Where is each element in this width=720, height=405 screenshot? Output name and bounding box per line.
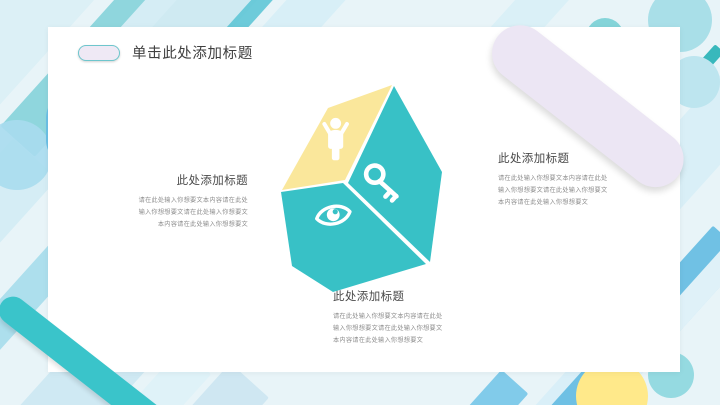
title-pill-icon [78, 45, 120, 61]
block-line: 输入你想想要文请在此处输入你想要文 [108, 207, 248, 219]
block-line: 本内容请在此处输入你想想要文 [498, 197, 648, 209]
block-line: 请在此处输入你想要文本内容请在此处 [498, 173, 648, 185]
isometric-cube-graphic [270, 80, 450, 300]
presentation-slide: 单击此处添加标题 此处添加标题 请在此处输入你想要文本内容请在此处 输入你想想要… [0, 0, 720, 405]
page-title[interactable]: 单击此处添加标题 [132, 42, 253, 63]
text-block-left: 此处添加标题 请在此处输入你想要文本内容请在此处 输入你想想要文请在此处输入你想… [108, 172, 248, 231]
block-line: 本内容请在此处输入你想想要文 [108, 219, 248, 231]
block-line: 本内容请在此处输入你想想要文 [333, 335, 483, 347]
slide-header: 单击此处添加标题 [78, 42, 253, 63]
block-title[interactable]: 此处添加标题 [108, 172, 248, 188]
diagonal-stripe [368, 370, 529, 405]
block-line: 输入你想想要文请在此处输入你想要文 [333, 323, 483, 335]
block-line: 输入你想想要文请在此处输入你想要文 [498, 185, 648, 197]
block-line: 请在此处输入你想要文本内容请在此处 [333, 311, 483, 323]
block-line: 请在此处输入你想要文本内容请在此处 [108, 195, 248, 207]
